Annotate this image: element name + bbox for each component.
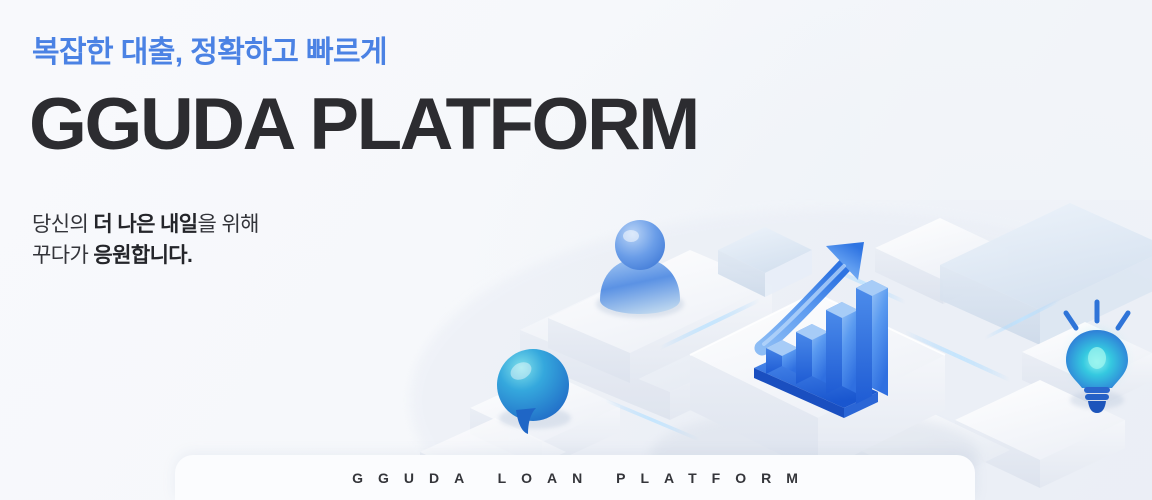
subtitle-text-tail: 을 위해	[197, 213, 258, 236]
iso-tile	[955, 380, 1125, 488]
caption-text: GGUDA LOAN PLATFORM	[337, 470, 813, 486]
speech-bubble-icon	[497, 349, 571, 434]
subtitle-emphasis-2: 응원합니다.	[93, 244, 192, 267]
hero-text-block: 복잡한 대출, 정확하고 빠르게 GGUDA PLATFORM 당신의 더 나은…	[32, 33, 685, 271]
subtitle-emphasis: 더 나은 내일	[93, 213, 197, 236]
lightbulb-icon	[1066, 302, 1128, 413]
hero-subtitle: 당신의 더 나은 내일을 위해 꾸다가 응원합니다.	[32, 209, 685, 271]
page-title: GGUDA PLATFORM	[29, 88, 698, 161]
iso-tile	[1022, 322, 1152, 411]
iso-tile	[875, 218, 1008, 304]
iso-tile-glass	[940, 203, 1152, 345]
iso-tile-glass	[718, 227, 812, 297]
hero-subtitle-line-2: 꾸다가 응원합니다.	[32, 240, 685, 271]
hero-eyebrow: 복잡한 대출, 정확하고 빠르게	[32, 33, 685, 74]
glow-connector	[605, 268, 1060, 440]
iso-tile	[470, 372, 620, 468]
hero-banner: 복잡한 대출, 정확하고 빠르게 GGUDA PLATFORM 당신의 더 나은…	[0, 0, 1152, 500]
subtitle-text-2: 꾸다가	[32, 244, 93, 267]
subtitle-text: 당신의	[32, 213, 93, 236]
hero-subtitle-line-1: 당신의 더 나은 내일을 위해	[32, 209, 685, 240]
caption-bar: GGUDA LOAN PLATFORM	[175, 455, 975, 500]
bar-chart-growth-icon	[754, 242, 888, 418]
iso-tile	[520, 268, 800, 420]
